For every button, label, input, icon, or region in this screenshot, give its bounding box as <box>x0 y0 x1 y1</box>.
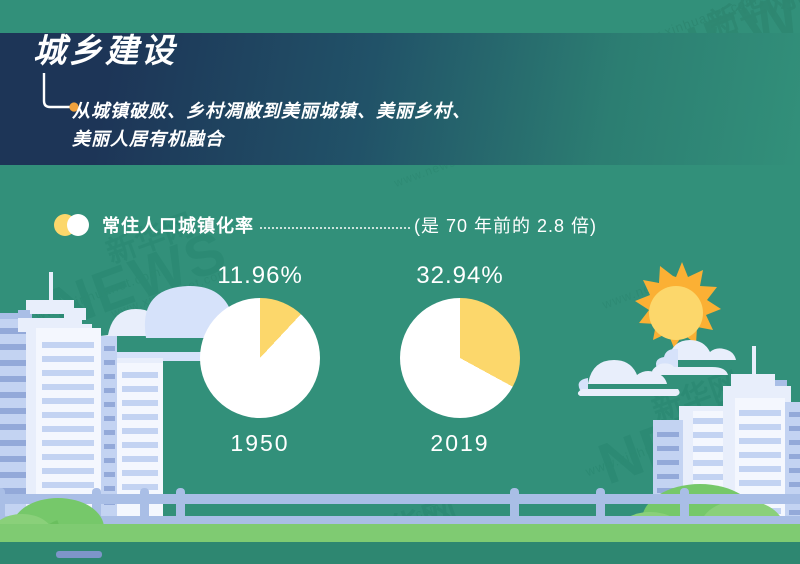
road <box>0 542 800 564</box>
grass-strip <box>0 524 800 544</box>
skyscraper-icon <box>653 420 683 526</box>
page-subtitle: 从城镇破败、乡村凋敝到美丽城镇、美丽乡村、 美丽人居有机融合 <box>72 98 772 154</box>
skyscraper-icon <box>18 272 117 524</box>
skyscraper-icon <box>679 406 737 526</box>
railing-icon <box>0 488 800 528</box>
watermark-url-bottom-center: www.xinhuanet.com <box>321 499 442 554</box>
pie-disc <box>400 298 520 418</box>
watermark-logo-cn-mid-right: 新华网 <box>645 358 745 430</box>
pie-disc <box>200 298 320 418</box>
sun-icon <box>635 262 721 348</box>
road-dash <box>56 551 102 558</box>
cloud-icon <box>578 360 680 396</box>
dotted-leader-line-icon <box>260 227 410 229</box>
infographic-canvas: NEWS 新华网 www.xinhuanet.com NEWS 新华网 www.… <box>0 0 800 564</box>
subtitle-line-1: 从城镇破败、乡村凋敝到美丽城镇、美丽乡村、 <box>72 98 772 126</box>
chart-legend: 常住人口城镇化率 (是 70 年前的 2.8 倍) <box>54 210 597 240</box>
subtitle-line-2: 美丽人居有机融合 <box>72 126 772 154</box>
skyscraper-icon <box>0 313 32 521</box>
watermark-url-mid-left: www.xinhuanet.com <box>33 264 163 323</box>
cloud-icon <box>652 340 736 375</box>
watermark-url-mid-right: www.xinhuanet.com <box>583 420 713 479</box>
pie-year-label: 2019 <box>382 430 538 457</box>
bush-icon <box>616 512 684 556</box>
two-overlapping-circles-marker-icon <box>54 214 90 236</box>
legend-note: (是 70 年前的 2.8 倍) <box>414 212 597 238</box>
watermark-logo-bottom-center: 新华网 <box>347 483 465 564</box>
skyscraper-icon <box>723 346 800 526</box>
bush-icon <box>642 484 784 556</box>
watermark-url-right-mid: www.news.cn <box>600 267 689 312</box>
bush-icon <box>0 498 104 558</box>
cloud-icon <box>100 309 192 336</box>
skyscraper-icon <box>117 358 163 524</box>
pie-percent-label: 32.94% <box>382 262 538 290</box>
page-title: 城乡建设 <box>33 34 177 67</box>
watermark-logo-mid-right: NEWS <box>590 373 784 498</box>
pie-year-label: 1950 <box>182 430 338 457</box>
pie-percent-label: 11.96% <box>182 262 338 290</box>
legend-label: 常住人口城镇化率 <box>102 212 254 238</box>
